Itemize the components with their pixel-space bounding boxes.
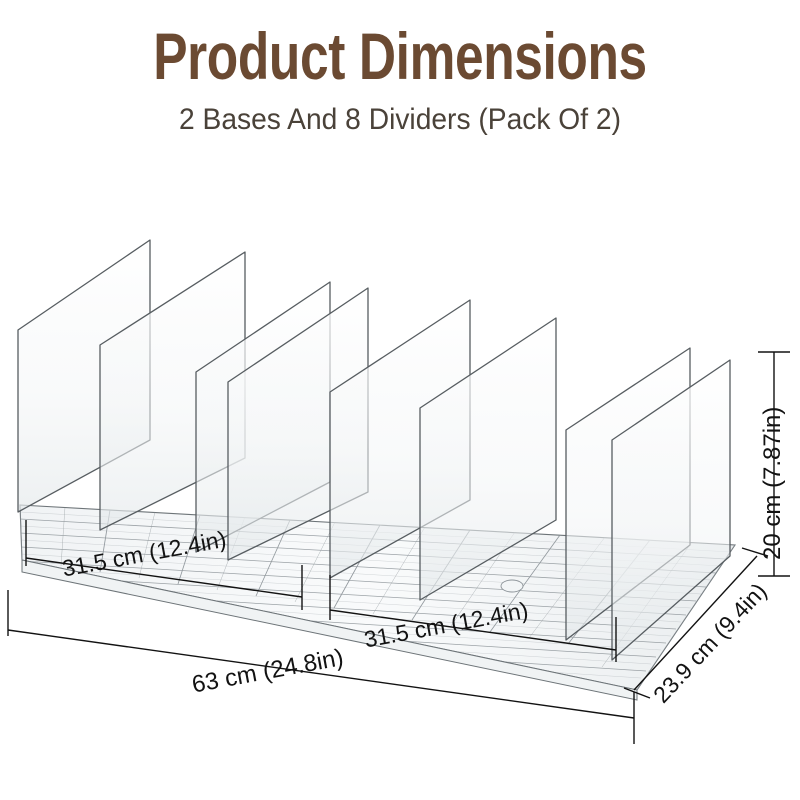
product-dimensions-infographic: Product Dimensions 2 Bases And 8 Divider… [0, 0, 800, 800]
dimension-label-height: 20 cm (7.87in) [760, 407, 786, 560]
base-center-clip [501, 580, 523, 592]
